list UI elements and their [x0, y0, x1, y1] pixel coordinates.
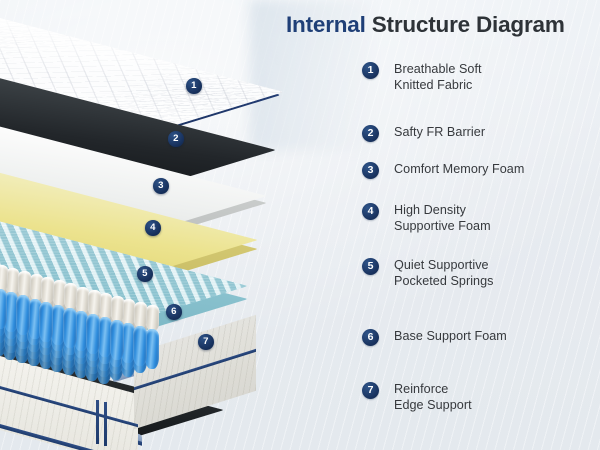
legend-label-1: Breathable SoftKnitted Fabric	[394, 62, 482, 93]
legend-label-line: Pocketed Springs	[394, 274, 494, 290]
callout-4: 4	[145, 220, 161, 236]
legend-badge-7: 7	[362, 382, 379, 399]
legend-item-3: 3Comfort Memory Foam	[362, 162, 524, 179]
callout-1: 1	[186, 78, 202, 94]
legend-label-4: High DensitySupportive Foam	[394, 203, 491, 234]
legend-label-7: ReinforceEdge Support	[394, 382, 472, 413]
legend-label-line: Knitted Fabric	[394, 78, 482, 94]
legend-badge-3: 3	[362, 162, 379, 179]
legend-label-5: Quiet SupportivePocketed Springs	[394, 258, 494, 289]
legend-label-line: Quiet Supportive	[394, 258, 494, 274]
callout-5: 5	[137, 266, 153, 282]
legend-label-6: Base Support Foam	[394, 329, 507, 345]
callout-2: 2	[168, 131, 184, 147]
legend-badge-4: 4	[362, 203, 379, 220]
legend-label-line: Supportive Foam	[394, 219, 491, 235]
legend-item-1: 1Breathable SoftKnitted Fabric	[362, 62, 482, 93]
legend-label-3: Comfort Memory Foam	[394, 162, 524, 178]
legend-badge-5: 5	[362, 258, 379, 275]
legend-label-line: Comfort Memory Foam	[394, 162, 524, 178]
legend-label-line: Edge Support	[394, 398, 472, 414]
callout-3: 3	[153, 178, 169, 194]
legend-badge-1: 1	[362, 62, 379, 79]
mattress-exploded-view: 1234567	[0, 14, 354, 444]
callout-7: 7	[198, 334, 214, 350]
callout-6: 6	[166, 304, 182, 320]
page-title-rest: Structure Diagram	[366, 12, 565, 37]
legend-label-line: High Density	[394, 203, 491, 219]
legend-badge-2: 2	[362, 125, 379, 142]
legend-label-2: Safty FR Barrier	[394, 125, 485, 141]
legend-item-5: 5Quiet SupportivePocketed Springs	[362, 258, 494, 289]
legend-item-6: 6Base Support Foam	[362, 329, 507, 346]
legend-item-2: 2Safty FR Barrier	[362, 125, 485, 142]
legend-item-7: 7ReinforceEdge Support	[362, 382, 472, 413]
legend-badge-6: 6	[362, 329, 379, 346]
legend-label-line: Safty FR Barrier	[394, 125, 485, 141]
legend-item-4: 4High DensitySupportive Foam	[362, 203, 491, 234]
diagram-canvas: Internal Structure Diagram	[0, 0, 600, 450]
legend-label-line: Reinforce	[394, 382, 472, 398]
legend-label-line: Breathable Soft	[394, 62, 482, 78]
legend-label-line: Base Support Foam	[394, 329, 507, 345]
